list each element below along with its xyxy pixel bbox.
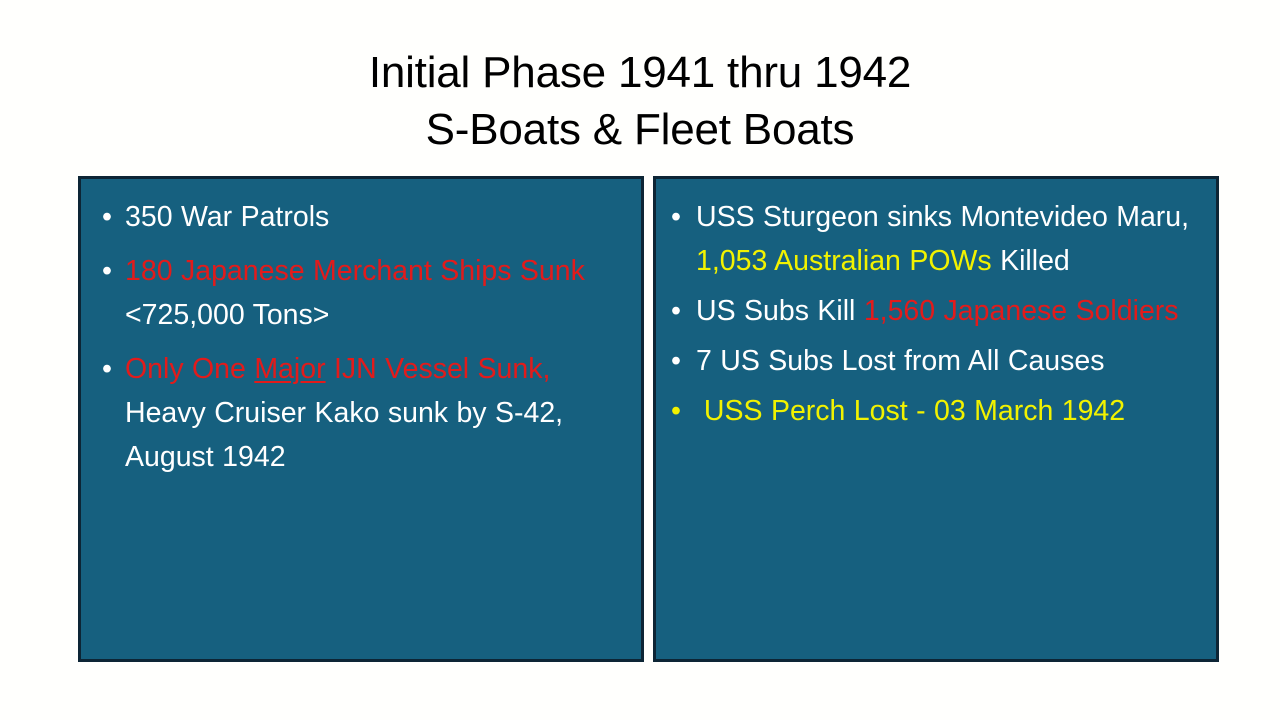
text-run: 7 US Subs Lost from All Causes <box>696 345 1105 377</box>
bullet-item: 180 Japanese Merchant Ships Sunk <725,00… <box>97 249 627 337</box>
text-run: Killed <box>992 245 1070 277</box>
bullet-text: 7 US Subs Lost from All Causes <box>696 345 1105 377</box>
bullet-text: 350 War Patrols <box>125 201 329 233</box>
text-run: 1,560 Japanese Soldiers <box>864 295 1179 327</box>
bullet-item: Only One Major IJN Vessel Sunk, Heavy Cr… <box>97 347 627 479</box>
bullet-item: 350 War Patrols <box>97 195 627 239</box>
bullet-item: USS Sturgeon sinks Montevideo Maru,1,053… <box>666 195 1202 283</box>
bullet-item: 7 US Subs Lost from All Causes <box>666 339 1202 383</box>
bullet-text: US Subs Kill 1,560 Japanese Soldiers <box>696 295 1179 327</box>
bullet-item: US Subs Kill 1,560 Japanese Soldiers <box>666 289 1202 333</box>
bullet-text: Only One Major IJN Vessel Sunk, Heavy Cr… <box>125 353 570 473</box>
text-run: US Subs Kill <box>696 295 864 327</box>
page-title: Initial Phase 1941 thru 1942 S-Boats & F… <box>0 44 1280 158</box>
text-run: Only One <box>125 353 254 385</box>
title-line-2: S-Boats & Fleet Boats <box>0 101 1280 158</box>
right-content-panel: USS Sturgeon sinks Montevideo Maru,1,053… <box>653 176 1219 662</box>
text-run: 1,053 Australian POWs <box>696 245 992 277</box>
text-run: USS Perch Lost - 03 March 1942 <box>696 395 1125 427</box>
bullet-continuation-line: 1,053 Australian POWs Killed <box>696 239 1202 283</box>
text-run: 180 Japanese Merchant Ships Sunk <box>125 255 585 287</box>
left-bullet-list: 350 War Patrols180 Japanese Merchant Shi… <box>97 195 627 479</box>
text-run: Major <box>254 353 325 385</box>
bullet-item: USS Perch Lost - 03 March 1942 <box>666 389 1202 433</box>
text-run: 350 War Patrols <box>125 201 329 233</box>
text-run: IJN Vessel Sunk, <box>326 353 551 385</box>
bullet-text: USS Sturgeon sinks Montevideo Maru, <box>696 201 1189 233</box>
text-run: USS Sturgeon sinks Montevideo Maru, <box>696 201 1189 233</box>
bullet-text: 180 Japanese Merchant Ships Sunk <725,00… <box>125 255 593 331</box>
title-line-1: Initial Phase 1941 thru 1942 <box>0 44 1280 101</box>
bullet-text: USS Perch Lost - 03 March 1942 <box>696 395 1125 427</box>
right-bullet-list: USS Sturgeon sinks Montevideo Maru,1,053… <box>666 195 1202 433</box>
left-content-panel: 350 War Patrols180 Japanese Merchant Shi… <box>78 176 644 662</box>
